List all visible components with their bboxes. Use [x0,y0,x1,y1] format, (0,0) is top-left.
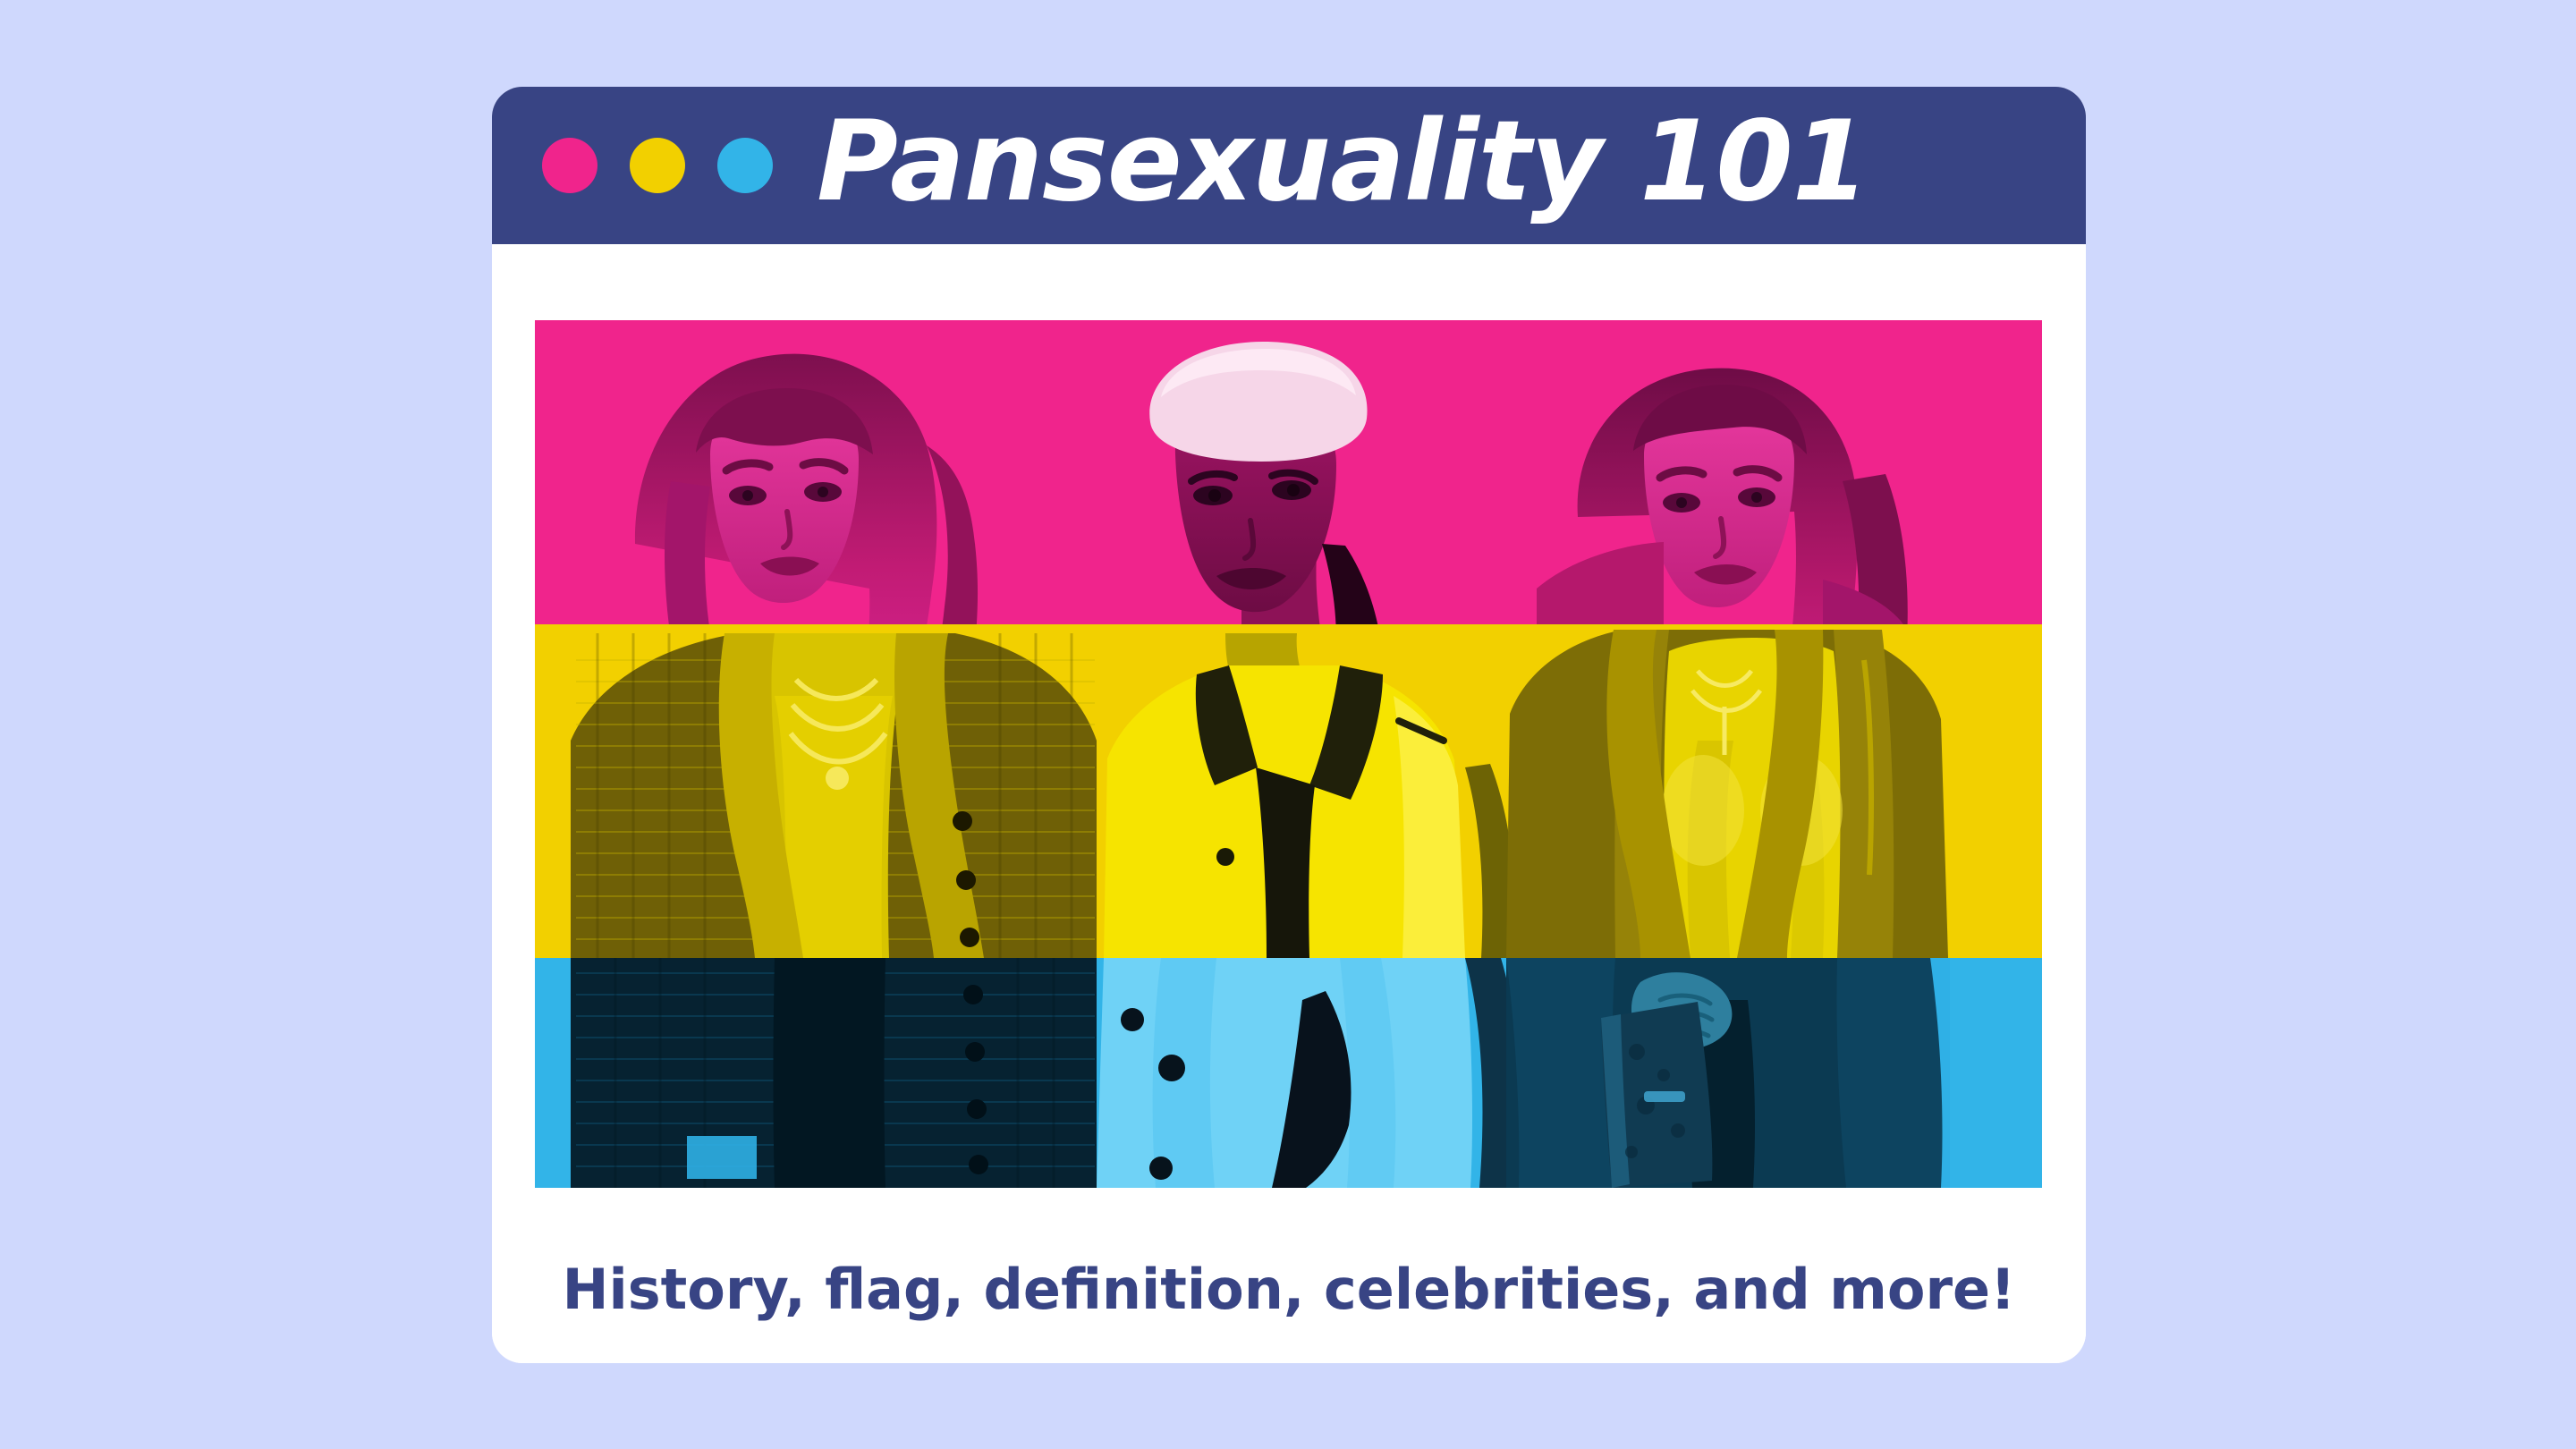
browser-window-card: Pansexuality 101 [492,87,2086,1363]
window-title: Pansexuality 101 [492,106,2086,217]
window-content-area: History, flag, definition, celebrities, … [492,244,2086,1363]
caption-text: History, flag, definition, celebrities, … [492,1259,2086,1320]
hero-image [535,320,2042,1188]
window-title-bar: Pansexuality 101 [492,87,2086,244]
pansexual-flag-photo-composite [535,320,2042,1188]
